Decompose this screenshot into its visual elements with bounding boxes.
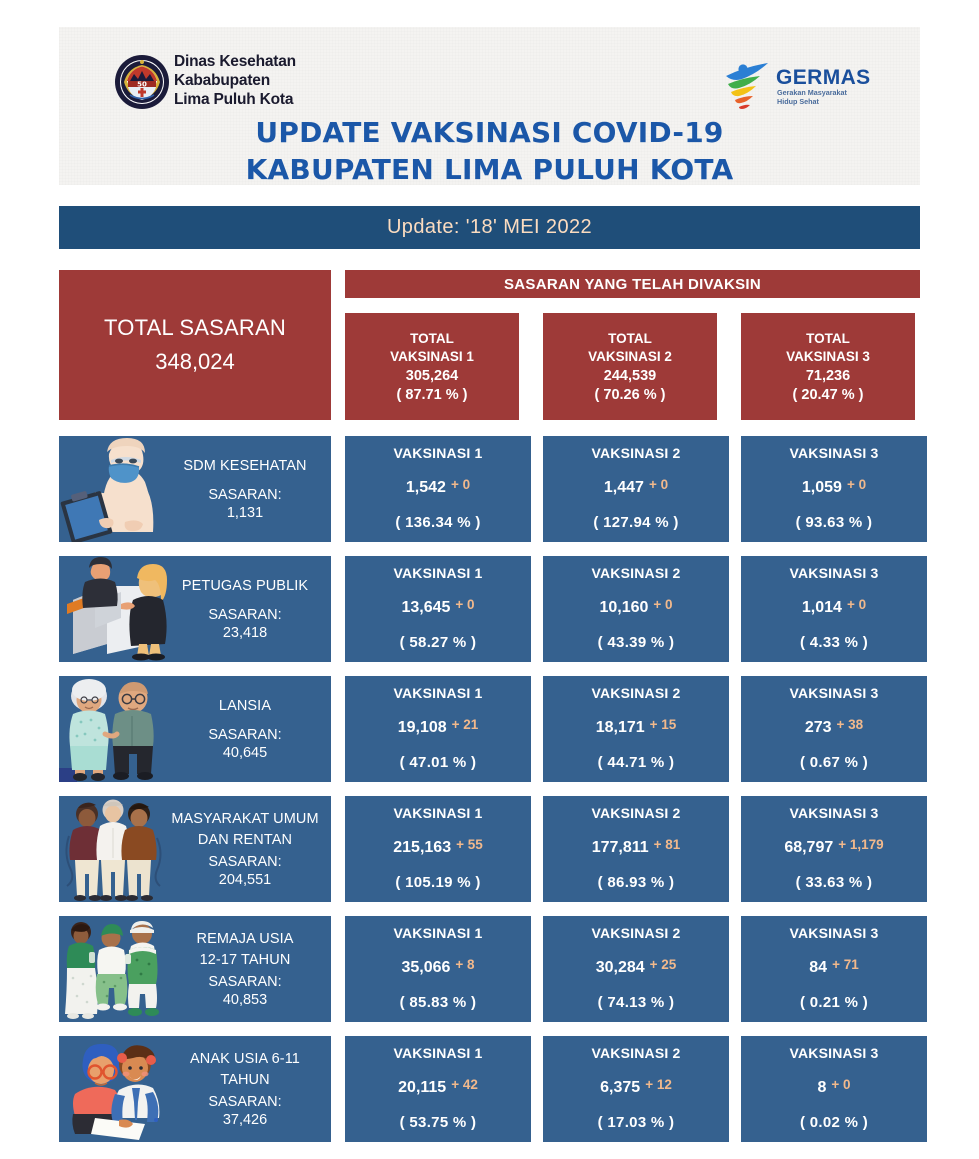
- dose-value-group: 1,059 + 0: [741, 461, 927, 514]
- dose-total-percent: ( 87.71 % ): [397, 387, 468, 403]
- dose-title: VAKSINASI 2: [591, 805, 680, 821]
- dose-delta: + 0: [847, 477, 866, 492]
- dose-1-card: VAKSINASI 1 215,163 + 55 ( 105.19 % ): [345, 796, 531, 902]
- dose-percent: ( 0.02 % ): [800, 1114, 868, 1142]
- dose-delta: + 21: [452, 717, 479, 732]
- dose-label: VAKSINASI 3: [786, 349, 870, 364]
- dose-total-percent: ( 70.26 % ): [595, 387, 666, 403]
- page-title-line-2: KABUPATEN LIMA PULUH KOTA: [59, 152, 920, 185]
- category-name-line: LANSIA: [219, 697, 271, 716]
- dose-value-group: 1,447 + 0: [543, 461, 729, 514]
- table-row: MASYARAKAT UMUMDAN RENTAN SASARAN: 204,5…: [59, 796, 920, 902]
- health-worker-ppe-icon: [59, 436, 167, 542]
- dose-percent: ( 44.71 % ): [598, 754, 675, 782]
- dose-total-value: 244,539: [604, 368, 656, 384]
- update-date-bar: Update: '18' MEI 2022: [59, 206, 920, 249]
- dose-delta: + 0: [451, 477, 470, 492]
- dose-value: 10,160: [599, 599, 648, 617]
- dose-value: 18,171: [596, 719, 645, 737]
- dose-value: 1,447: [604, 479, 644, 497]
- sasaran-value: 23,418: [223, 625, 267, 641]
- dose-3-card: VAKSINASI 3 1,014 + 0 ( 4.33 % ): [741, 556, 927, 662]
- dose-1-card: VAKSINASI 1 13,645 + 0 ( 58.27 % ): [345, 556, 531, 662]
- dose-title: VAKSINASI 1: [393, 1045, 482, 1061]
- dose-value-group: 273 + 38: [741, 701, 927, 754]
- dose-value: 13,645: [401, 599, 450, 617]
- dose-percent: ( 85.83 % ): [400, 994, 477, 1022]
- dose-percent: ( 4.33 % ): [800, 634, 868, 662]
- dose-value-group: 30,284 + 25: [543, 941, 729, 994]
- dose-title: VAKSINASI 3: [789, 925, 878, 941]
- total-label: TOTAL: [806, 331, 850, 346]
- dose-value: 8: [817, 1079, 826, 1097]
- dose-title: VAKSINASI 2: [591, 1045, 680, 1061]
- germas-wordmark: GERMAS: [776, 66, 871, 90]
- dose-percent: ( 136.34 % ): [395, 514, 480, 542]
- dose-percent: ( 86.93 % ): [598, 874, 675, 902]
- dose-title: VAKSINASI 2: [591, 445, 680, 461]
- dose-percent: ( 53.75 % ): [400, 1114, 477, 1142]
- dose-value-group: 84 + 71: [741, 941, 927, 994]
- germas-swoosh-icon: [724, 60, 776, 110]
- dose-value-group: 35,066 + 8: [345, 941, 531, 994]
- dose-value-group: 13,645 + 0: [345, 581, 531, 634]
- category-name-line: REMAJA USIA: [197, 930, 294, 949]
- sasaran-label: SASARAN:: [208, 1094, 281, 1110]
- category-text: REMAJA USIA12-17 TAHUN SASARAN: 40,853: [167, 916, 331, 1022]
- dose-value: 6,375: [600, 1079, 640, 1097]
- table-row: PETUGAS PUBLIK SASARAN: 23,418 VAKSINASI…: [59, 556, 920, 662]
- sasaran-label: SASARAN:: [208, 607, 281, 623]
- dose-value: 1,014: [802, 599, 842, 617]
- dose-delta: + 15: [650, 717, 677, 732]
- sasaran-value: 40,645: [223, 745, 267, 761]
- dose-2-card: VAKSINASI 2 30,284 + 25 ( 74.13 % ): [543, 916, 729, 1022]
- germas-tagline: Gerakan Masyarakat Hidup Sehat: [777, 89, 847, 107]
- dose-percent: ( 58.27 % ): [400, 634, 477, 662]
- dose-value-group: 68,797 + 1,179: [741, 821, 927, 874]
- dose-percent: ( 0.21 % ): [800, 994, 868, 1022]
- category-name-line: PETUGAS PUBLIK: [182, 577, 308, 596]
- dose-3-card: VAKSINASI 3 8 + 0 ( 0.02 % ): [741, 1036, 927, 1142]
- category-name-line: ANAK USIA 6-11: [190, 1050, 300, 1069]
- dose-value: 84: [809, 959, 827, 977]
- dose-total-percent: ( 20.47 % ): [793, 387, 864, 403]
- dose-3-card: VAKSINASI 3 273 + 38 ( 0.67 % ): [741, 676, 927, 782]
- dose-value: 1,542: [406, 479, 446, 497]
- dose-value: 273: [805, 719, 832, 737]
- dose-delta: + 0: [455, 597, 474, 612]
- dose-title: VAKSINASI 3: [789, 445, 878, 461]
- dose-value-group: 177,811 + 81: [543, 821, 729, 874]
- teenagers-group-icon: [59, 916, 167, 1022]
- children-studying-icon: [59, 1036, 167, 1142]
- dinkes-org-name: Dinas Kesehatan Kababupaten Lima Puluh K…: [174, 53, 296, 110]
- dose-value-group: 1,014 + 0: [741, 581, 927, 634]
- public-officer-counter-icon: [59, 556, 167, 662]
- divaksin-section-header: SASARAN YANG TELAH DIVAKSIN: [345, 270, 920, 298]
- dose-title: VAKSINASI 2: [591, 925, 680, 941]
- dose-delta: + 71: [832, 957, 859, 972]
- dose-percent: ( 43.39 % ): [598, 634, 675, 662]
- dose-total-value: 305,264: [406, 368, 458, 384]
- category-text: ANAK USIA 6-11TAHUN SASARAN: 37,426: [167, 1036, 331, 1142]
- elderly-couple-icon: [59, 676, 167, 782]
- dinkes-line-2: Kababupaten: [174, 72, 296, 91]
- total-label: TOTAL: [608, 331, 652, 346]
- dose-delta: + 8: [455, 957, 474, 972]
- page-title: UPDATE VAKSINASI COVID-19 KABUPATEN LIMA…: [59, 115, 920, 185]
- table-row: LANSIA SASARAN: 40,645 VAKSINASI 1 19,10…: [59, 676, 920, 782]
- dose-title: VAKSINASI 1: [393, 805, 482, 821]
- dose-value-group: 20,115 + 42: [345, 1061, 531, 1114]
- sasaran-label: SASARAN:: [208, 727, 281, 743]
- dinkes-line-1: Dinas Kesehatan: [174, 53, 296, 72]
- dose-3-card: VAKSINASI 3 84 + 71 ( 0.21 % ): [741, 916, 927, 1022]
- dose-value-group: 19,108 + 21: [345, 701, 531, 754]
- dose-value-group: 215,163 + 55: [345, 821, 531, 874]
- dose-title: VAKSINASI 1: [393, 565, 482, 581]
- sasaran-label: SASARAN:: [208, 854, 281, 870]
- category-card: MASYARAKAT UMUMDAN RENTAN SASARAN: 204,5…: [59, 796, 331, 902]
- dose-delta: + 81: [654, 837, 681, 852]
- category-card: PETUGAS PUBLIK SASARAN: 23,418: [59, 556, 331, 662]
- category-card: LANSIA SASARAN: 40,645: [59, 676, 331, 782]
- dose-title: VAKSINASI 1: [393, 445, 482, 461]
- dose-percent: ( 127.94 % ): [593, 514, 678, 542]
- category-name-line: DAN RENTAN: [198, 831, 292, 850]
- dose-delta: + 38: [837, 717, 864, 732]
- dose-value: 215,163: [393, 839, 451, 857]
- total-vaksinasi-1-card: TOTAL VAKSINASI 1 305,264 ( 87.71 % ): [345, 313, 519, 420]
- dinkes-crest-icon: 50: [114, 54, 170, 110]
- dose-percent: ( 17.03 % ): [598, 1114, 675, 1142]
- category-text: MASYARAKAT UMUMDAN RENTAN SASARAN: 204,5…: [167, 796, 331, 902]
- dose-delta: + 1,179: [838, 837, 883, 852]
- dose-2-card: VAKSINASI 2 1,447 + 0 ( 127.94 % ): [543, 436, 729, 542]
- germas-tagline-2: Hidup Sehat: [777, 98, 847, 107]
- dose-value-group: 1,542 + 0: [345, 461, 531, 514]
- general-public-group-icon: [59, 796, 167, 902]
- dose-3-card: VAKSINASI 3 68,797 + 1,179 ( 33.63 % ): [741, 796, 927, 902]
- total-label: TOTAL: [410, 331, 454, 346]
- dose-title: VAKSINASI 1: [393, 925, 482, 941]
- dose-delta: + 55: [456, 837, 483, 852]
- dose-title: VAKSINASI 3: [789, 685, 878, 701]
- dose-label: VAKSINASI 2: [588, 349, 672, 364]
- dose-value: 35,066: [401, 959, 450, 977]
- sasaran-value: 1,131: [227, 505, 263, 521]
- total-sasaran-value: 348,024: [155, 349, 235, 375]
- totals-row: TOTAL VAKSINASI 1 305,264 ( 87.71 % ) TO…: [345, 313, 920, 420]
- dose-title: VAKSINASI 3: [789, 805, 878, 821]
- dose-1-card: VAKSINASI 1 35,066 + 8 ( 85.83 % ): [345, 916, 531, 1022]
- dose-title: VAKSINASI 3: [789, 565, 878, 581]
- sasaran-label: SASARAN:: [208, 487, 281, 503]
- dose-value: 68,797: [784, 839, 833, 857]
- dose-1-card: VAKSINASI 1 1,542 + 0 ( 136.34 % ): [345, 436, 531, 542]
- dose-value-group: 18,171 + 15: [543, 701, 729, 754]
- category-name-line: 12-17 TAHUN: [200, 951, 291, 970]
- dose-percent: ( 33.63 % ): [796, 874, 873, 902]
- dose-label: VAKSINASI 1: [390, 349, 474, 364]
- dose-delta: + 25: [650, 957, 677, 972]
- dose-2-card: VAKSINASI 2 18,171 + 15 ( 44.71 % ): [543, 676, 729, 782]
- dose-delta: + 0: [649, 477, 668, 492]
- category-text: PETUGAS PUBLIK SASARAN: 23,418: [167, 556, 331, 662]
- dose-percent: ( 74.13 % ): [598, 994, 675, 1022]
- infographic-page: 50 Dinas Kesehatan Kababupaten Lima Pulu…: [0, 0, 979, 1159]
- category-card: SDM KESEHATAN SASARAN: 1,131: [59, 436, 331, 542]
- dose-delta: + 0: [831, 1077, 850, 1092]
- dose-2-card: VAKSINASI 2 10,160 + 0 ( 43.39 % ): [543, 556, 729, 662]
- dose-title: VAKSINASI 3: [789, 1045, 878, 1061]
- category-text: SDM KESEHATAN SASARAN: 1,131: [167, 436, 331, 542]
- germas-logo: GERMAS Gerakan Masyarakat Hidup Sehat: [724, 60, 872, 112]
- dose-1-card: VAKSINASI 1 20,115 + 42 ( 53.75 % ): [345, 1036, 531, 1142]
- dose-value-group: 6,375 + 12: [543, 1061, 729, 1114]
- dose-2-card: VAKSINASI 2 6,375 + 12 ( 17.03 % ): [543, 1036, 729, 1142]
- category-card: ANAK USIA 6-11TAHUN SASARAN: 37,426: [59, 1036, 331, 1142]
- dose-value: 19,108: [398, 719, 447, 737]
- dose-percent: ( 93.63 % ): [796, 514, 873, 542]
- sasaran-value: 204,551: [219, 872, 271, 888]
- dose-percent: ( 47.01 % ): [400, 754, 477, 782]
- header-banner: 50 Dinas Kesehatan Kababupaten Lima Pulu…: [59, 27, 920, 185]
- dose-value: 20,115: [398, 1079, 446, 1097]
- total-sasaran-label: TOTAL SASARAN: [104, 315, 286, 341]
- update-date-text: Update: '18' MEI 2022: [387, 216, 592, 239]
- total-sasaran-card: TOTAL SASARAN 348,024: [59, 270, 331, 420]
- sasaran-value: 37,426: [223, 1112, 267, 1128]
- dose-delta: + 0: [653, 597, 672, 612]
- dose-percent: ( 105.19 % ): [395, 874, 480, 902]
- dose-percent: ( 0.67 % ): [800, 754, 868, 782]
- total-vaksinasi-2-card: TOTAL VAKSINASI 2 244,539 ( 70.26 % ): [543, 313, 717, 420]
- dose-total-value: 71,236: [806, 368, 850, 384]
- dose-title: VAKSINASI 2: [591, 685, 680, 701]
- table-row: REMAJA USIA12-17 TAHUN SASARAN: 40,853 V…: [59, 916, 920, 1022]
- dose-delta: + 0: [847, 597, 866, 612]
- dose-value: 30,284: [596, 959, 645, 977]
- dose-title: VAKSINASI 1: [393, 685, 482, 701]
- dose-value-group: 8 + 0: [741, 1061, 927, 1114]
- category-name-line: TAHUN: [220, 1071, 269, 1090]
- sasaran-label: SASARAN:: [208, 974, 281, 990]
- dose-value: 1,059: [802, 479, 842, 497]
- dose-2-card: VAKSINASI 2 177,811 + 81 ( 86.93 % ): [543, 796, 729, 902]
- table-row: ANAK USIA 6-11TAHUN SASARAN: 37,426 VAKS…: [59, 1036, 920, 1142]
- dinkes-line-3: Lima Puluh Kota: [174, 91, 296, 110]
- category-text: LANSIA SASARAN: 40,645: [167, 676, 331, 782]
- dose-1-card: VAKSINASI 1 19,108 + 21 ( 47.01 % ): [345, 676, 531, 782]
- dose-delta: + 42: [451, 1077, 478, 1092]
- category-name-line: SDM KESEHATAN: [183, 457, 306, 476]
- dose-3-card: VAKSINASI 3 1,059 + 0 ( 93.63 % ): [741, 436, 927, 542]
- category-name-line: MASYARAKAT UMUM: [171, 810, 318, 829]
- category-card: REMAJA USIA12-17 TAHUN SASARAN: 40,853: [59, 916, 331, 1022]
- sasaran-value: 40,853: [223, 992, 267, 1008]
- total-vaksinasi-3-card: TOTAL VAKSINASI 3 71,236 ( 20.47 % ): [741, 313, 915, 420]
- table-row: SDM KESEHATAN SASARAN: 1,131 VAKSINASI 1…: [59, 436, 920, 542]
- page-title-line-1: UPDATE VAKSINASI COVID-19: [59, 115, 920, 152]
- dose-value-group: 10,160 + 0: [543, 581, 729, 634]
- dose-delta: + 12: [645, 1077, 672, 1092]
- dose-value: 177,811: [592, 839, 649, 857]
- dose-title: VAKSINASI 2: [591, 565, 680, 581]
